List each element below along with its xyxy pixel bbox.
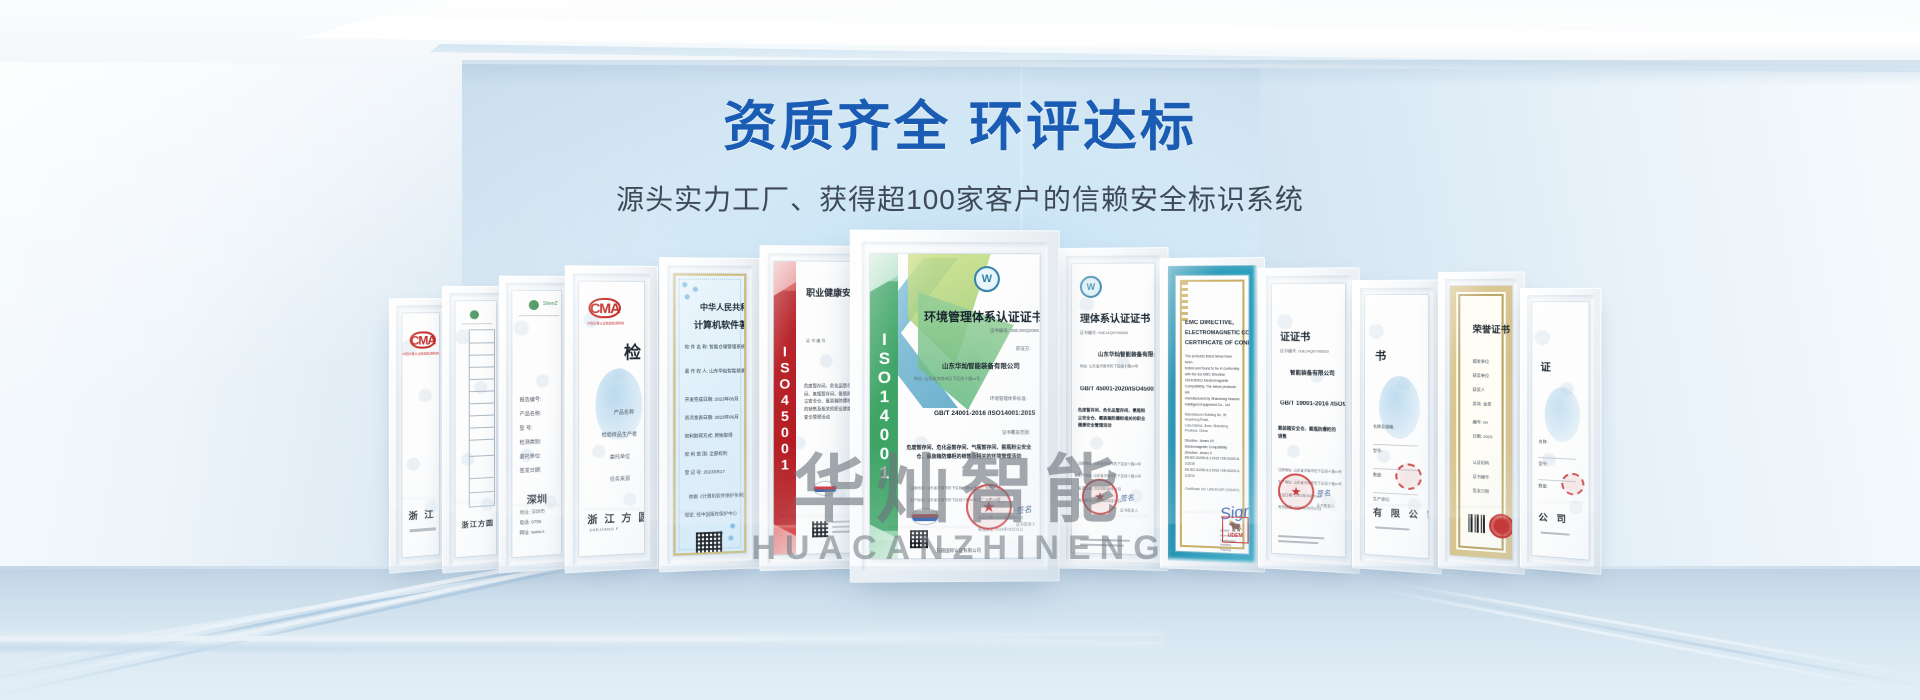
certificate-title-line2: 计算机软件著作权登记证书 (694, 318, 746, 331)
certificate-title: 检 (624, 338, 641, 363)
iso-ribbon: ISO14001 (870, 254, 898, 559)
certificate-paper: 中华人民共和国 计算机软件著作权登记证书 软 件 名 称: 智能仓储管理系统 V… (674, 273, 747, 555)
form-field: 产品名称: (520, 410, 542, 418)
hero-heading-block: 资质齐全 环评达标 源头实力工厂、获得超100家客户的信赖安全标识系统 (0, 96, 1920, 218)
certificate-number: 证书编号: 00EJ4Q0795000 (1080, 330, 1128, 336)
official-seal-icon (1395, 463, 1422, 491)
certificate-card[interactable]: ShenZ 报告编号: 产品名称: 型 号: 检测类别: 委托单位: 签发日期:… (499, 276, 574, 574)
form-field: 名称及规格: (1373, 424, 1394, 431)
certificate-meta: 证 书 编 号 (806, 338, 852, 344)
form-field: 数量: (1538, 483, 1547, 490)
accreditation-logo-icon (912, 509, 938, 524)
iso-standard-label: ISO14001 (874, 330, 894, 482)
form-field: 权 利 范 围: 全部权利 (685, 451, 728, 458)
certificate-paper: EMC DIRECTIVE, ELECTROMAGNETIC COMPATIBI… (1176, 275, 1249, 553)
official-seal-icon: ★ (1082, 478, 1118, 515)
accreditation-emblem-icon: W (1080, 276, 1102, 298)
cma-badge-label: CMA (410, 333, 435, 348)
paper-watermark (1272, 284, 1345, 557)
form-field: 委托单位: (520, 452, 542, 460)
certificate-issuer: 浙 江 (409, 507, 436, 522)
certificate-paper: 证证书 证书编号: 00EJ4Q0795000 智能装备有限公司 GB/T 19… (1272, 284, 1345, 557)
form-field: 报告编号: (520, 396, 542, 404)
page-subtitle: 源头实力工厂、获得超100家客户的信赖安全标识系统 (0, 178, 1920, 218)
form-field: 软 件 名 称: 智能仓储管理系统 V1.0 (685, 344, 746, 351)
company-address: 地址: 山东省济南市历下区经十路xx号 (1080, 364, 1138, 369)
form-field: 签发日期: (520, 466, 542, 474)
certificate-scope: 危废暂存间、危化品暂存间、氨瓶粉尘安全仓、氨装箱防爆柜相关的职业健康安全管理活动 (1078, 406, 1148, 430)
certificate-paper: 浙江方圆 (455, 301, 496, 557)
company-name: 山东华灿智能装备有限公司 (1098, 350, 1154, 358)
cma-badge-icon: CMA (410, 331, 436, 349)
form-field: 开发完成日期: 2023年05月 (685, 396, 739, 403)
form-field: 首次发表日期: 2023年06月 (685, 414, 739, 421)
signer-label: 证书签发人 (1016, 522, 1036, 528)
certificate-paper: CMA 中国计量认证检验检测机构 检 产品名称 检验样品生产者 委托单位 任务来… (579, 282, 644, 557)
form-field: 型号: (1538, 461, 1547, 468)
issuer-logo-icon (470, 310, 479, 319)
standard-name: GB/T 45001-2020/ISO45001:2018 (1080, 386, 1154, 393)
form-field: 奖项: 金奖 (1473, 401, 1492, 408)
form-field: 获奖人 (1473, 387, 1485, 393)
form-field: 产品名称 (614, 409, 634, 417)
certificate-body: The products listed below have been test… (1185, 354, 1240, 409)
form-field: 委托单位 (610, 453, 630, 461)
form-field: 认证机构 (1473, 460, 1490, 467)
signature: 签名 (1119, 493, 1134, 504)
form-field: 编号: 00 (1473, 419, 1488, 426)
certificate-paper: 证 名称: 型号: 数量: 公 司 (1532, 302, 1588, 560)
official-seal-icon: ★ (966, 484, 1012, 530)
signature: 签名 (1015, 504, 1032, 517)
iso-standard-label: ISO45001 (777, 343, 793, 472)
barcode (1468, 514, 1484, 533)
inspection-table (469, 329, 495, 507)
certificate-title: 荣誉证书 (1473, 322, 1510, 336)
cma-badge-sublabel: 中国计量认证检验检测机构 (579, 321, 638, 325)
issuer-logo-icon (529, 300, 539, 310)
certificate-title: 证证书 (1280, 328, 1310, 343)
certificate-issuer: 公 司 (1538, 510, 1569, 525)
certificate-paper: W 理体系认证证书 证书编号: 00EJ4Q0795000 山东华灿智能装备有限… (1072, 263, 1154, 554)
certificate-number: 证书编号: 00EJ4Q0795000 (1280, 348, 1329, 355)
certificate-issuer: 深圳 (527, 490, 547, 506)
certificate-title: 理体系认证证书 (1080, 310, 1150, 325)
certificate-card[interactable]: 证证书 证书编号: 00EJ4Q0795000 智能装备有限公司 GB/T 19… (1258, 267, 1360, 574)
qr-code (910, 530, 928, 548)
certificate-card[interactable]: EMC DIRECTIVE, ELECTROMAGNETIC COMPATIBI… (1160, 257, 1265, 573)
form-field: 登 记 号: 2023SR17 (685, 469, 725, 476)
company-label: 获证方: (1016, 346, 1031, 352)
certificate-number: 证书编号: 00EJ00Q0095 (990, 328, 1039, 334)
form-field: 检验样品生产者 (602, 431, 637, 439)
certificate-scope: 氨装箱安全仓、氨瓶防爆柜的销售 (1278, 425, 1339, 443)
form-field: 证书编号 (1473, 474, 1490, 481)
form-field: 著 作 权 人: 山东华灿智能装备有限公司 (685, 368, 746, 375)
iso-ribbon: ISO45001 (774, 261, 796, 554)
signature: 签名 (1316, 488, 1331, 499)
udem-mark-icon: 🐂 UDEM (1222, 516, 1248, 543)
certificate-paper: ShenZ 报告编号: 产品名称: 型 号: 检测类别: 委托单位: 签发日期:… (512, 291, 561, 557)
certificate-scope: 危废暂存间、危化品暂存间、氮瓶暂存间、氨瓶粉尘安全仓、氨装箱防爆柜的销售及相关的… (804, 382, 853, 421)
certificate-card[interactable]: 证 名称: 型号: 数量: 公 司 (1520, 288, 1601, 575)
qr-code (812, 521, 828, 537)
form-field: 权利取得方式: 原始取得 (685, 433, 733, 440)
scope-label: 证书覆盖范围: (1002, 430, 1030, 436)
certificate-card-featured[interactable]: ISO14001 W 环境管理体系认证证书 证书编号: 00EJ00Q0095 … (850, 230, 1060, 583)
form-field: 型号: (1373, 448, 1382, 454)
form-field: 颁发单位 (1473, 359, 1490, 365)
company-name: 智能装备有限公司 (1290, 368, 1335, 377)
certificate-title: 书 (1375, 347, 1386, 363)
form-field: 数量: (1373, 472, 1382, 478)
certificate-paper: CMA 中国计量认证检验检测机构 浙 江 (402, 313, 439, 557)
official-seal-icon (1561, 472, 1584, 496)
certificate-card[interactable]: 中华人民共和国 计算机软件著作权登记证书 软 件 名 称: 智能仓储管理系统 V… (659, 257, 760, 572)
certificate-issuer: 方圆国际认证有限公司 (936, 548, 981, 554)
accreditation-emblem-icon: W (974, 266, 1000, 292)
form-field: 生产单位: (1373, 496, 1390, 503)
certificate-card[interactable]: CMA 中国计量认证检验检测机构 检 产品名称 检验样品生产者 委托单位 任务来… (565, 265, 658, 573)
official-seal-icon: ★ (1278, 473, 1314, 511)
certificate-card[interactable]: 书 名称及规格: 型号: 数量: 生产单位: 有 限 公 司 (1352, 280, 1442, 575)
certificate-issuer: 浙 江 方 圆 检 (587, 508, 644, 527)
standard-label: 环境管理体系标准: (990, 396, 1027, 402)
certificate-title: 证 (1540, 358, 1550, 373)
form-field: 任务来源 (610, 475, 630, 483)
company-name: 山东华灿智能装备有限公司 (942, 360, 1020, 370)
form-field: 名称: (1538, 439, 1547, 445)
company-address: 地址: 山东省济南市历下区经十路xx号 (914, 376, 980, 382)
hero-banner-stage: 资质齐全 环评达标 源头实力工厂、获得超100家客户的信赖安全标识系统 CMA … (0, 0, 1920, 700)
form-field: 检测类别: (520, 438, 542, 446)
form-field: 日期: 2023 (1473, 433, 1493, 440)
manufacturer-address: Manufacturer Building No. 39 Huacheng Ro… (1185, 412, 1240, 435)
cma-badge-sublabel: 中国计量认证检验检测机构 (402, 351, 439, 356)
cma-badge-label: CMA (590, 300, 619, 316)
form-field: 型 号: (520, 424, 533, 432)
certificate-title-line: EMC DIRECTIVE, (1185, 320, 1234, 326)
paper-emblem (1545, 387, 1581, 443)
form-field: 获奖单位 (1473, 373, 1490, 379)
corner-ornament (1182, 282, 1188, 322)
certificate-card[interactable]: 荣誉证书 颁发单位 获奖单位 获奖人 奖项: 金奖 编号: 00 日期: 202… (1438, 271, 1525, 574)
issuer-name: ShenZ (543, 301, 558, 307)
certificate-title-line1: 中华人民共和国 (700, 302, 746, 313)
standard-name: GB/T 24001-2016 /ISO14001:2015 (934, 410, 1035, 417)
cma-badge-icon: CMA (588, 298, 621, 318)
certificate-title-line: CERTIFICATE OF CONFORMITY (1185, 340, 1249, 347)
certificate-paper: ISO14001 W 环境管理体系认证证书 证书编号: 00EJ00Q0095 … (870, 254, 1040, 559)
certificate-scope: 危废暂存间、危化品暂存间、气瓶暂存间、氨瓶粉尘安全仓、氨装箱防爆柜的销售及相关的… (906, 444, 1032, 461)
qr-code (696, 531, 722, 555)
page-title: 资质齐全 环评达标 (0, 96, 1920, 160)
certificate-paper: 书 名称及规格: 型号: 数量: 生产单位: 有 限 公 司 (1365, 295, 1428, 558)
certificate-paper: 荣誉证书 颁发单位 获奖单位 获奖人 奖项: 金奖 编号: 00 日期: 202… (1450, 286, 1512, 560)
certificate-title-line: ELECTROMAGNETIC COMPATIBILITY DIRECTIVE (1185, 330, 1249, 337)
certificate-card[interactable]: W 理体系认证证书 证书编号: 00EJ4Q0795000 山东华灿智能装备有限… (1058, 247, 1169, 571)
certificate-title: 环境管理体系认证证书 (924, 308, 1040, 325)
paper-emblem (596, 368, 643, 440)
certificate-paper: ISO45001 职业健康安全管理体系认证证书 证 书 编 号 危废暂存间、危化… (774, 261, 858, 554)
applied-standards: Directive : Annex VII Electromagnetic Co… (1185, 439, 1240, 481)
form-field: 签发日期 (1473, 488, 1490, 495)
